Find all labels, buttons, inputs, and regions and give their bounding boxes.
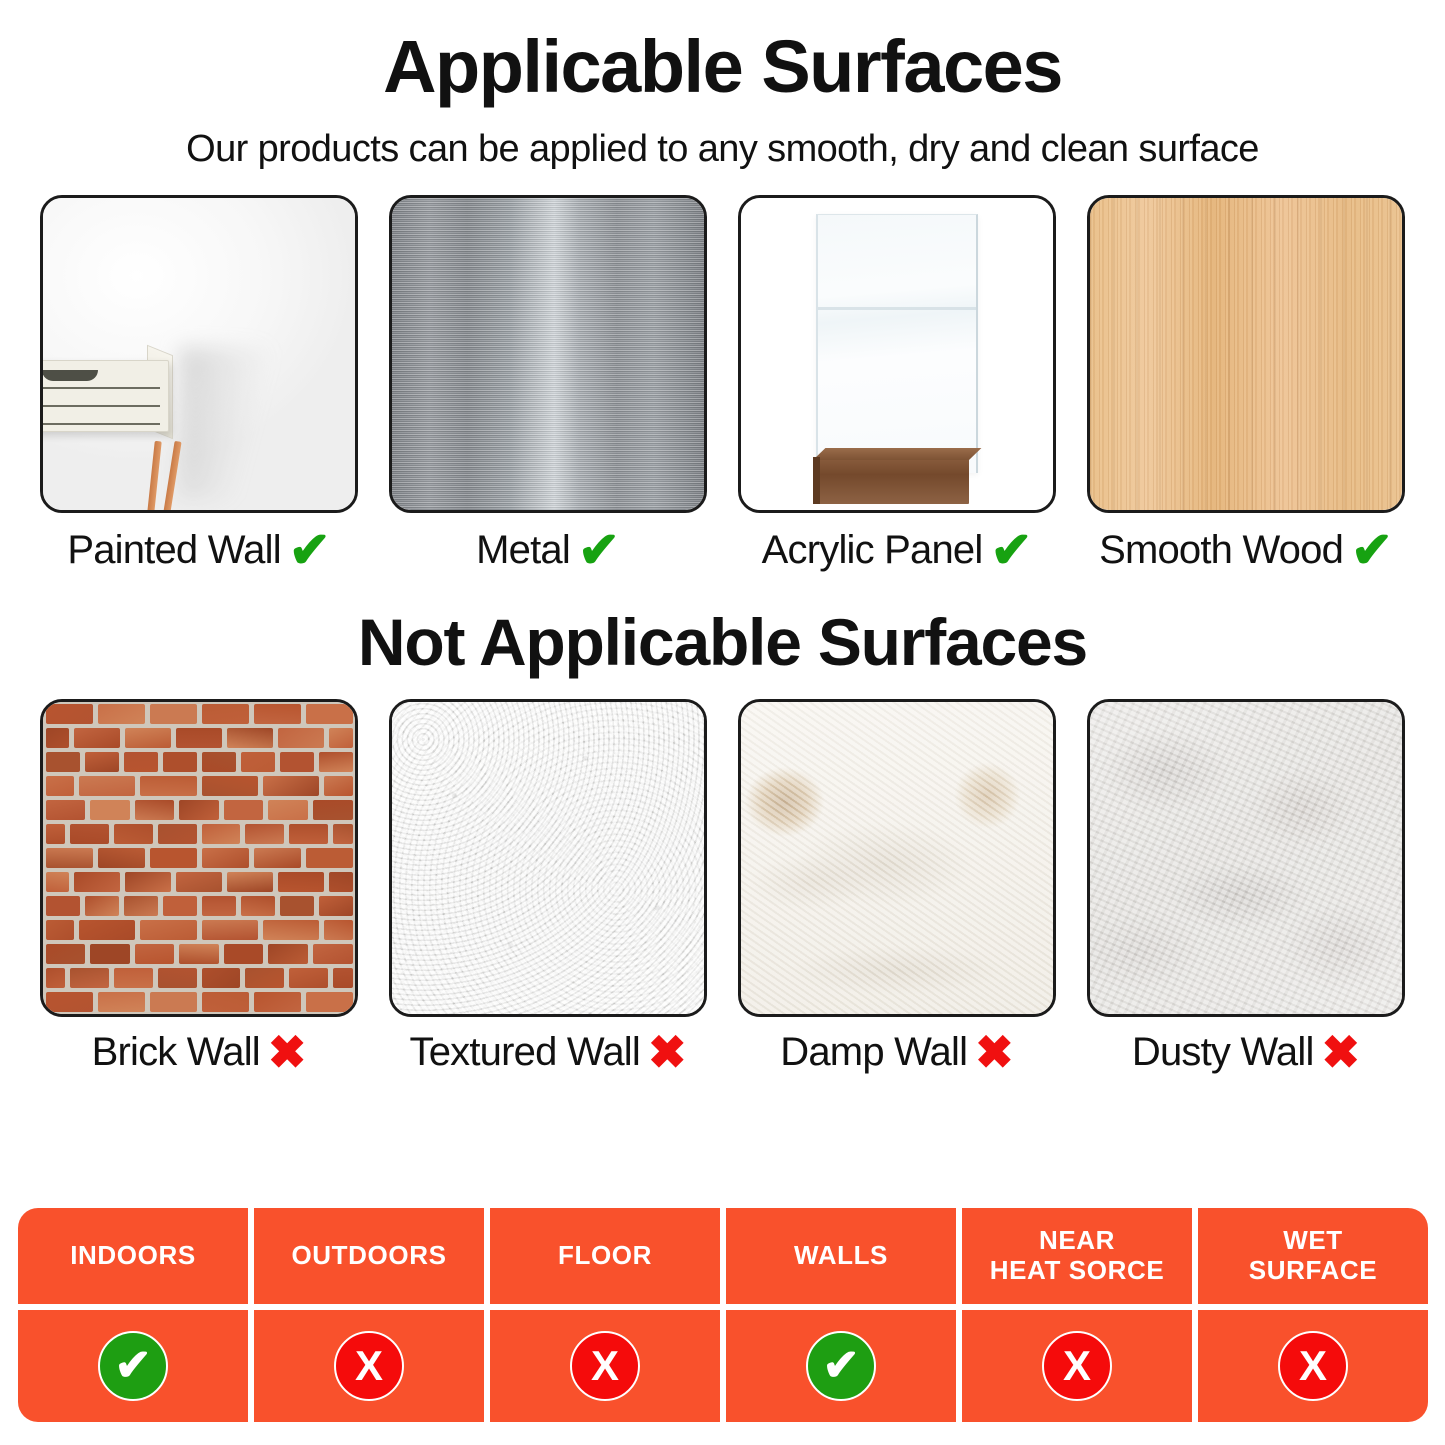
cabinet-line	[40, 387, 160, 389]
brick	[313, 944, 353, 964]
brick	[306, 704, 353, 724]
brick	[202, 920, 258, 940]
surface-label-text: Metal	[476, 528, 570, 573]
brick	[245, 968, 284, 988]
brick	[202, 704, 249, 724]
acrylic-sheet	[816, 214, 978, 473]
cabinet-leg	[163, 441, 181, 513]
brick	[163, 896, 197, 916]
brick	[74, 728, 120, 748]
usage-matrix-header-label: WETSURFACE	[1249, 1226, 1377, 1285]
brushed-metal-texture	[392, 198, 704, 510]
brick	[46, 752, 80, 772]
surface-card-textured-wall: Textured Wall ✖	[389, 699, 707, 1075]
brick	[254, 992, 301, 1012]
cross-badge-icon: X	[334, 1331, 404, 1401]
usage-matrix-header-row: INDOORSOUTDOORSFLOORWALLSNEARHEAT SORCEW…	[18, 1208, 1428, 1304]
cross-icon: ✖	[975, 1029, 1014, 1075]
dusty-wall-photo	[1087, 699, 1405, 1017]
brick	[263, 920, 319, 940]
brick-row	[43, 990, 355, 1014]
brick	[268, 800, 308, 820]
check-icon: ✔	[578, 525, 620, 575]
brick	[289, 824, 328, 844]
painted-wall-texture	[43, 198, 355, 510]
surface-label-dusty-wall: Dusty Wall ✖	[1132, 1029, 1360, 1075]
brick-row	[43, 942, 355, 966]
acrylic-panel-photo	[738, 195, 1056, 513]
cross-badge-icon: X	[1042, 1331, 1112, 1401]
usage-matrix-header-label: FLOOR	[558, 1241, 652, 1271]
brick-row	[43, 846, 355, 870]
brick	[46, 848, 93, 868]
brick	[46, 704, 93, 724]
brick	[202, 776, 258, 796]
brick-row	[43, 798, 355, 822]
brick	[329, 872, 352, 892]
brick	[125, 872, 171, 892]
check-icon: ✔	[289, 525, 331, 575]
dusty-wall-texture	[1090, 702, 1402, 1014]
section-title-not-applicable: Not Applicable Surfaces	[0, 609, 1445, 675]
brick	[158, 824, 197, 844]
usage-matrix-status-row: ✔XX✔XX	[18, 1310, 1428, 1422]
brick	[179, 944, 219, 964]
brushed-metal-photo	[389, 195, 707, 513]
brick	[241, 752, 275, 772]
wooden-base-slot	[813, 457, 820, 504]
damp-wall-photo	[738, 699, 1056, 1017]
surface-card-dusty-wall: Dusty Wall ✖	[1087, 699, 1405, 1075]
brick	[224, 944, 264, 964]
cabinet-body	[40, 360, 169, 432]
usage-matrix-status-cell: X	[1198, 1310, 1428, 1422]
surface-label-textured-wall: Textured Wall ✖	[410, 1029, 687, 1075]
brick-row	[43, 750, 355, 774]
brick-row	[43, 918, 355, 942]
brick	[150, 992, 197, 1012]
brick	[98, 704, 145, 724]
brick	[324, 920, 352, 940]
surface-card-smooth-wood: Smooth Wood ✔	[1087, 195, 1405, 575]
cross-icon: ✖	[268, 1029, 307, 1075]
brick	[70, 968, 109, 988]
surface-card-acrylic-panel: Acrylic Panel ✔	[738, 195, 1056, 575]
brick	[176, 872, 222, 892]
brick	[140, 920, 196, 940]
surface-label-text: Smooth Wood	[1099, 528, 1343, 573]
brick	[79, 776, 135, 796]
cross-badge-icon: X	[570, 1331, 640, 1401]
brick	[85, 896, 119, 916]
brick	[324, 776, 352, 796]
brick	[280, 752, 314, 772]
brick	[224, 800, 264, 820]
brick	[245, 824, 284, 844]
brick	[135, 800, 175, 820]
brick	[202, 848, 249, 868]
textured-wall-photo	[389, 699, 707, 1017]
brick-wall-photo	[40, 699, 358, 1017]
brick	[46, 776, 74, 796]
brick	[114, 968, 153, 988]
cross-icon: ✖	[648, 1029, 687, 1075]
brick	[176, 728, 222, 748]
cross-badge-icon: X	[1278, 1331, 1348, 1401]
brick	[333, 968, 352, 988]
not-applicable-surfaces-row: Brick Wall ✖ Textured Wall ✖ Damp Wall ✖	[0, 699, 1445, 1075]
brick-row	[43, 726, 355, 750]
usage-matrix-header-cell: FLOOR	[490, 1208, 720, 1304]
usage-matrix-status-cell: X	[962, 1310, 1192, 1422]
brick	[333, 824, 352, 844]
cabinet-leg	[147, 441, 161, 513]
brick-row	[43, 870, 355, 894]
brick	[46, 920, 74, 940]
brick	[85, 752, 119, 772]
brick-row	[43, 774, 355, 798]
brick	[46, 896, 80, 916]
textured-wall-texture	[392, 702, 704, 1014]
usage-matrix-status-cell: X	[254, 1310, 484, 1422]
smooth-wood-photo	[1087, 195, 1405, 513]
smooth-wood-texture	[1090, 198, 1402, 510]
brick	[179, 800, 219, 820]
check-icon: ✔	[1351, 525, 1393, 575]
brick	[202, 824, 241, 844]
surface-label-smooth-wood: Smooth Wood ✔	[1099, 525, 1393, 575]
usage-matrix-header-cell: INDOORS	[18, 1208, 248, 1304]
usage-matrix-header-label: WALLS	[794, 1241, 888, 1271]
applicable-surfaces-row: Painted Wall ✔ Metal ✔ Acrylic	[0, 195, 1445, 575]
brick	[329, 728, 352, 748]
usage-matrix-status-cell: ✔	[18, 1310, 248, 1422]
brick	[125, 728, 171, 748]
brick-row	[43, 966, 355, 990]
brick	[124, 752, 158, 772]
acrylic-panel-texture	[741, 198, 1053, 510]
brick	[202, 752, 236, 772]
brick	[79, 920, 135, 940]
usage-matrix-header-cell: NEARHEAT SORCE	[962, 1208, 1192, 1304]
surface-label-text: Brick Wall	[92, 1030, 260, 1075]
surface-label-text: Dusty Wall	[1132, 1030, 1314, 1075]
brick	[114, 824, 153, 844]
wall-shadow	[180, 348, 274, 498]
cross-icon: ✖	[1322, 1029, 1361, 1075]
brick	[46, 992, 93, 1012]
usage-matrix-header-label: INDOORS	[70, 1241, 196, 1271]
brick	[98, 992, 145, 1012]
brick	[46, 968, 65, 988]
brick	[74, 872, 120, 892]
brick	[90, 800, 130, 820]
wooden-base	[813, 457, 969, 504]
brick	[70, 824, 109, 844]
surface-label-acrylic-panel: Acrylic Panel ✔	[762, 525, 1033, 575]
brick	[98, 848, 145, 868]
brick	[306, 992, 353, 1012]
damp-wall-texture	[741, 702, 1053, 1014]
usage-matrix-status-cell: ✔	[726, 1310, 956, 1422]
brick-row	[43, 702, 355, 726]
usage-matrix-header-cell: OUTDOORS	[254, 1208, 484, 1304]
brick	[319, 752, 353, 772]
check-badge-icon: ✔	[98, 1331, 168, 1401]
brick-row	[43, 894, 355, 918]
brick	[268, 944, 308, 964]
brick	[202, 992, 249, 1012]
brick	[158, 968, 197, 988]
brick	[46, 824, 65, 844]
brick	[150, 848, 197, 868]
brick	[46, 728, 69, 748]
brick	[227, 872, 273, 892]
brick	[280, 896, 314, 916]
brick	[202, 896, 236, 916]
brick	[241, 896, 275, 916]
usage-matrix-header-label: OUTDOORS	[291, 1241, 446, 1271]
brick	[319, 896, 353, 916]
brick	[124, 896, 158, 916]
usage-matrix-header-cell: WETSURFACE	[1198, 1208, 1428, 1304]
brick	[306, 848, 353, 868]
page-title: Applicable Surfaces	[0, 0, 1445, 104]
surface-label-painted-wall: Painted Wall ✔	[67, 525, 330, 575]
usage-matrix-header-cell: WALLS	[726, 1208, 956, 1304]
surface-label-metal: Metal ✔	[476, 525, 620, 575]
infographic-page: Applicable Surfaces Our products can be …	[0, 0, 1445, 1445]
surface-card-damp-wall: Damp Wall ✖	[738, 699, 1056, 1075]
page-subtitle: Our products can be applied to any smoot…	[0, 128, 1445, 171]
brick	[90, 944, 130, 964]
brick	[227, 728, 273, 748]
painted-wall-photo	[40, 195, 358, 513]
surface-label-damp-wall: Damp Wall ✖	[780, 1029, 1013, 1075]
brick	[278, 728, 324, 748]
brick	[313, 800, 353, 820]
brick	[163, 752, 197, 772]
surface-label-brick-wall: Brick Wall ✖	[92, 1029, 307, 1075]
surface-label-text: Painted Wall	[67, 528, 280, 573]
usage-matrix: INDOORSOUTDOORSFLOORWALLSNEARHEAT SORCEW…	[18, 1208, 1428, 1422]
surface-label-text: Damp Wall	[780, 1030, 967, 1075]
surface-label-text: Acrylic Panel	[762, 528, 983, 573]
brick	[46, 872, 69, 892]
surface-card-brick-wall: Brick Wall ✖	[40, 699, 358, 1075]
brick	[278, 872, 324, 892]
brick	[263, 776, 319, 796]
brick	[46, 944, 86, 964]
brick	[150, 704, 197, 724]
surface-label-text: Textured Wall	[410, 1030, 640, 1075]
brick	[135, 944, 175, 964]
check-icon: ✔	[990, 525, 1032, 575]
cabinet-line	[40, 423, 160, 425]
brick	[289, 968, 328, 988]
brick	[140, 776, 196, 796]
brick-row	[43, 822, 355, 846]
usage-matrix-header-label: NEARHEAT SORCE	[990, 1226, 1165, 1285]
cabinet-line	[40, 405, 160, 407]
brick	[254, 704, 301, 724]
usage-matrix-status-cell: X	[490, 1310, 720, 1422]
brick-wall-texture	[43, 702, 355, 1014]
brick	[46, 800, 86, 820]
surface-card-metal: Metal ✔	[389, 195, 707, 575]
check-badge-icon: ✔	[806, 1331, 876, 1401]
brick	[254, 848, 301, 868]
brick	[202, 968, 241, 988]
surface-card-painted-wall: Painted Wall ✔	[40, 195, 358, 575]
